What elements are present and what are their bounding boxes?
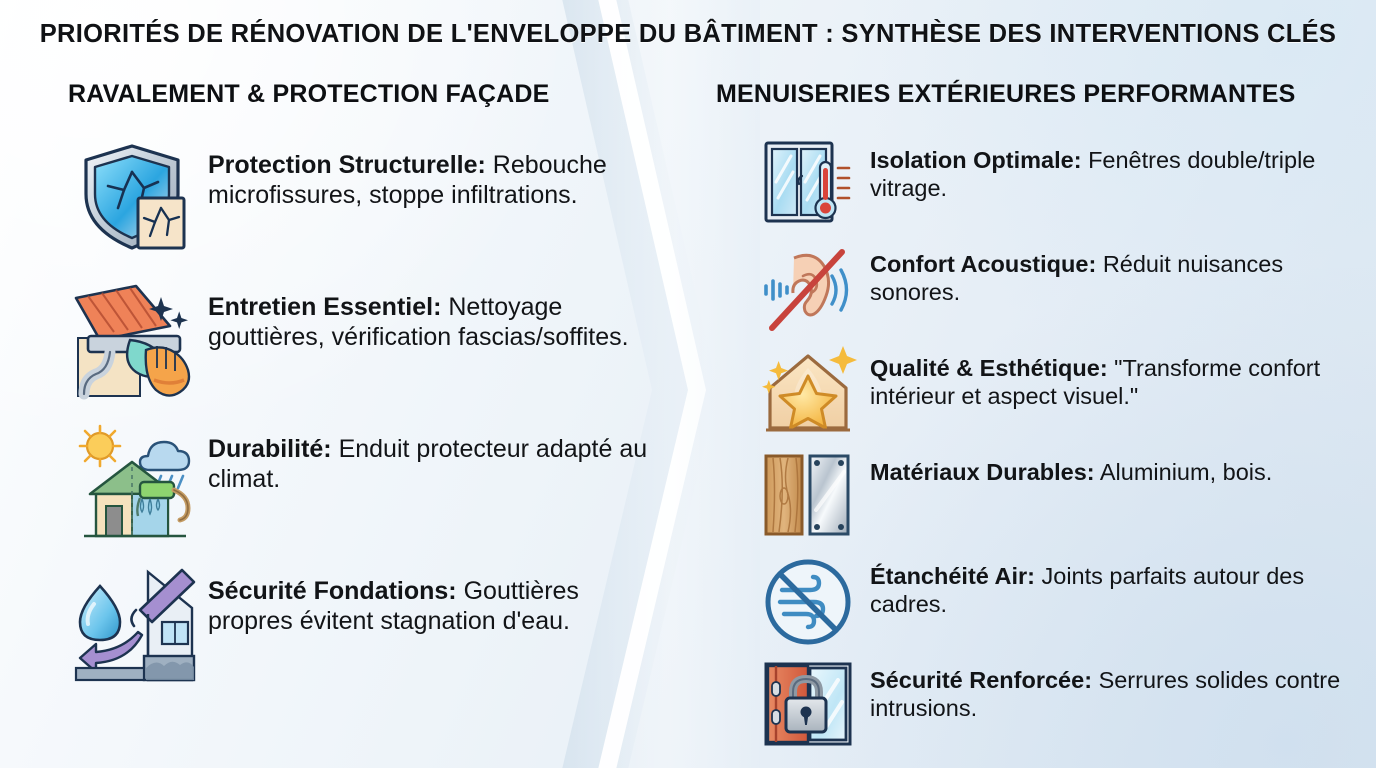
list-item-text: Étanchéité Air: Joints parfaits autour d…	[870, 554, 1362, 618]
list-item-lead: Protection Structurelle:	[208, 151, 486, 179]
list-item-lead: Durabilité:	[208, 435, 332, 463]
list-item: Protection Structurelle: Rebouche microf…	[62, 138, 662, 258]
list-item: Étanchéité Air: Joints parfaits autour d…	[752, 554, 1362, 650]
infographic-canvas: PRIORITÉS DE RÉNOVATION DE L'ENVELOPPE D…	[0, 0, 1376, 768]
list-item-lead: Confort Acoustique:	[870, 251, 1096, 277]
list-item-lead: Qualité & Esthétique:	[870, 355, 1108, 381]
list-item-text: Durabilité: Enduit protecteur adapté au …	[208, 422, 662, 494]
list-item-text: Sécurité Renforcée: Serrures solides con…	[870, 658, 1362, 722]
list-item: Isolation Optimale: Fenêtres double/trip…	[752, 138, 1362, 234]
page-title: PRIORITÉS DE RÉNOVATION DE L'ENVELOPPE D…	[0, 20, 1376, 49]
house-star-quality-icon	[760, 346, 856, 442]
list-item: Qualité & Esthétique: "Transforme confor…	[752, 346, 1362, 442]
list-item: Entretien Essentiel: Nettoyage gouttière…	[62, 280, 662, 400]
column-ravalement: Protection Structurelle: Rebouche microf…	[62, 138, 662, 706]
list-item: Durabilité: Enduit protecteur adapté au …	[62, 422, 662, 542]
water-drainage-foundation-icon	[74, 564, 194, 684]
gutter-cleaning-icon	[74, 280, 194, 400]
list-item-text: Protection Structurelle: Rebouche microf…	[208, 138, 662, 210]
list-item-text: Entretien Essentiel: Nettoyage gouttière…	[208, 280, 662, 352]
door-lock-security-icon	[760, 658, 856, 754]
ear-noise-blocked-icon	[760, 242, 856, 338]
list-item-lead: Sécurité Fondations:	[208, 577, 457, 605]
list-item-text: Matériaux Durables: Aluminium, bois.	[870, 450, 1362, 486]
list-item-lead: Isolation Optimale:	[870, 147, 1082, 173]
list-item: Sécurité Renforcée: Serrures solides con…	[752, 658, 1362, 754]
shield-crack-icon	[74, 138, 194, 258]
list-item-text: Sécurité Fondations: Gouttières propres …	[208, 564, 662, 636]
column-heading-right: MENUISERIES EXTÉRIEURES PERFORMANTES	[716, 80, 1296, 109]
house-weather-coating-icon	[74, 422, 194, 542]
list-item-lead: Sécurité Renforcée:	[870, 667, 1092, 693]
list-item-lead: Entretien Essentiel:	[208, 293, 441, 321]
wood-aluminium-panels-icon	[760, 450, 856, 546]
list-item: Confort Acoustique: Réduit nuisances son…	[752, 242, 1362, 338]
list-item-text: Confort Acoustique: Réduit nuisances son…	[870, 242, 1362, 306]
list-item-text: Isolation Optimale: Fenêtres double/trip…	[870, 138, 1362, 202]
no-wind-airtight-icon	[760, 554, 856, 650]
list-item-lead: Matériaux Durables:	[870, 459, 1095, 485]
column-heading-left: RAVALEMENT & PROTECTION FAÇADE	[68, 80, 549, 109]
list-item-lead: Étanchéité Air:	[870, 563, 1035, 589]
list-item-body: Aluminium, bois.	[1100, 459, 1272, 485]
window-thermometer-icon	[760, 138, 856, 234]
list-item: Sécurité Fondations: Gouttières propres …	[62, 564, 662, 684]
column-menuiseries: Isolation Optimale: Fenêtres double/trip…	[752, 138, 1362, 762]
list-item-text: Qualité & Esthétique: "Transforme confor…	[870, 346, 1362, 410]
list-item: Matériaux Durables: Aluminium, bois.	[752, 450, 1362, 546]
